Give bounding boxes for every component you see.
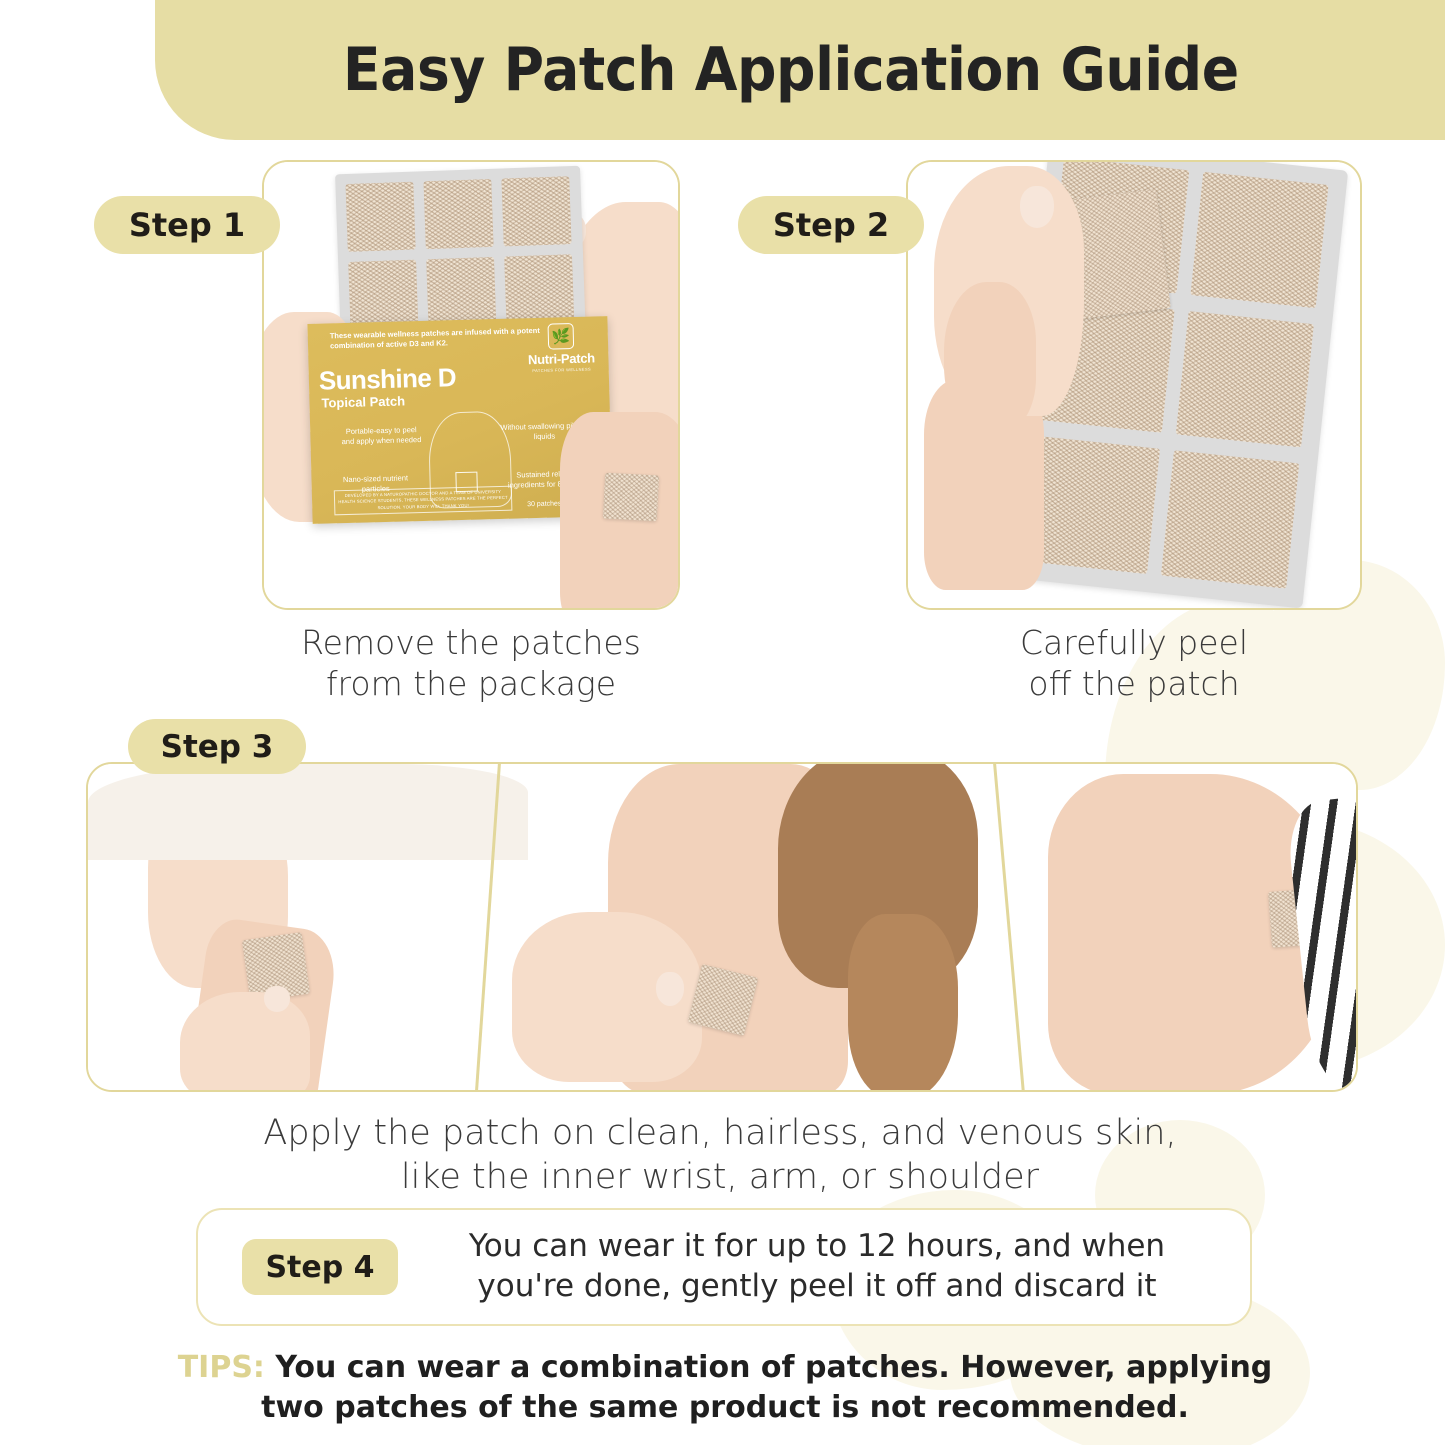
step-4-text: You can wear it for up to 12 hours, and … (398, 1227, 1250, 1306)
brand-name: Nutri-Patch (522, 350, 600, 367)
brand-block: 🌿 Nutri-Patch PATCHES FOR WELLNESS (522, 322, 601, 373)
thumb (944, 282, 1036, 432)
step-1-caption-line-1: Remove the patches (262, 622, 680, 663)
step-2-badge: Step 2 (738, 196, 924, 254)
tips-line-1: TIPS: You can wear a combination of patc… (100, 1348, 1350, 1388)
patch-cell (423, 179, 493, 249)
brand-tagline: PATCHES FOR WELLNESS (523, 366, 601, 373)
header-banner: Easy Patch Application Guide (155, 0, 1445, 140)
step-1-caption-line-2: from the package (262, 663, 680, 704)
fingernail (1020, 186, 1054, 228)
fingernail (656, 972, 684, 1006)
patch-cell (504, 254, 574, 326)
package-fine-print: DEVELOPED BY A NATUROPATHIC DOCTOR AND A… (334, 486, 513, 516)
fingernail (264, 986, 290, 1012)
ponytail (848, 914, 958, 1092)
step-3-caption: Apply the patch on clean, hairless, and … (150, 1112, 1290, 1200)
tips-section: TIPS: You can wear a combination of patc… (100, 1348, 1350, 1427)
package-benefit-1: Portable-easy to peel and apply when nee… (340, 425, 423, 447)
shirt (88, 764, 528, 860)
page-title: Easy Patch Application Guide (207, 35, 1394, 105)
patch-cell (1161, 450, 1299, 588)
step-4-badge: Step 4 (242, 1239, 398, 1295)
patch-cell (345, 182, 415, 252)
step-1-photo: These wearable wellness patches are infu… (262, 160, 680, 610)
step-3-caption-line-2: like the inner wrist, arm, or shoulder (150, 1156, 1290, 1200)
step-2-photo (906, 160, 1362, 610)
tips-text-line-2: two patches of the same product is not r… (100, 1388, 1350, 1428)
tips-label: TIPS: (178, 1350, 265, 1385)
step-4-text-line-1: You can wear it for up to 12 hours, and … (410, 1227, 1224, 1267)
applying-hand (180, 992, 310, 1092)
step-4-text-line-2: you're done, gently peel it off and disc… (410, 1267, 1224, 1307)
step-3-badge: Step 3 (128, 719, 306, 774)
patch-cell (1176, 311, 1314, 447)
patch-cell (501, 176, 571, 246)
applied-patch (603, 473, 659, 522)
product-subtitle: Topical Patch (321, 393, 405, 410)
step-1-caption: Remove the patches from the package (262, 622, 680, 705)
step-1-badge: Step 1 (94, 196, 280, 254)
infographic-page: Easy Patch Application Guide Step 1 Thes… (0, 0, 1445, 1445)
product-name: Sunshine D (319, 362, 457, 397)
step-3-photo (86, 762, 1358, 1092)
step-2-caption-line-2: off the patch (906, 663, 1362, 704)
tips-text-line-1: You can wear a combination of patches. H… (275, 1350, 1272, 1385)
step-2-caption-line-1: Carefully peel (906, 622, 1362, 663)
patch-cell (1190, 172, 1328, 308)
leaf-icon: 🌿 (548, 323, 575, 350)
step-4-box: Step 4 You can wear it for up to 12 hour… (196, 1208, 1252, 1326)
step-2-caption: Carefully peel off the patch (906, 622, 1362, 705)
step-3-caption-line-1: Apply the patch on clean, hairless, and … (150, 1112, 1290, 1156)
